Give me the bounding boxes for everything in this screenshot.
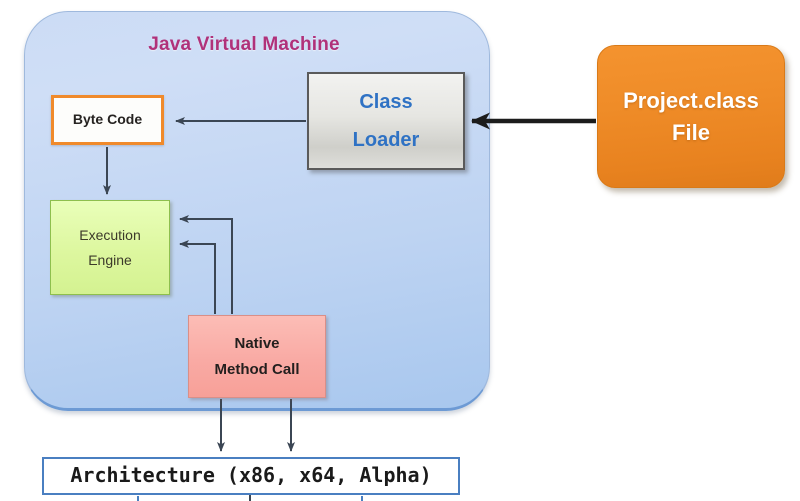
node-native-method-call-label-line2: Method Call bbox=[215, 357, 300, 383]
node-execution-engine-label-line2: Engine bbox=[88, 248, 132, 273]
node-native-method-call-label-line1: Native bbox=[234, 331, 279, 357]
node-native-method-call[interactable]: Native Method Call bbox=[188, 315, 326, 398]
node-byte-code-label: Byte Code bbox=[73, 111, 142, 129]
node-class-loader-label-line1: Class bbox=[359, 83, 412, 121]
node-project-class-file-label-line2: File bbox=[672, 117, 710, 149]
node-architecture[interactable]: Architecture (x86, x64, Alpha) bbox=[42, 457, 460, 495]
node-project-class-file-label-line1: Project.class bbox=[623, 85, 759, 117]
node-execution-engine[interactable]: Execution Engine bbox=[50, 200, 170, 295]
node-class-loader-label-line2: Loader bbox=[353, 121, 420, 159]
jvm-panel-title: Java Virtual Machine bbox=[24, 34, 464, 56]
node-execution-engine-label-line1: Execution bbox=[79, 223, 140, 248]
node-architecture-label: Architecture (x86, x64, Alpha) bbox=[70, 463, 431, 489]
node-project-class-file[interactable]: Project.class File bbox=[597, 45, 785, 188]
node-byte-code[interactable]: Byte Code bbox=[51, 95, 164, 145]
node-class-loader[interactable]: Class Loader bbox=[307, 72, 465, 170]
diagram-canvas: Java Virtual Machine bbox=[0, 0, 800, 501]
